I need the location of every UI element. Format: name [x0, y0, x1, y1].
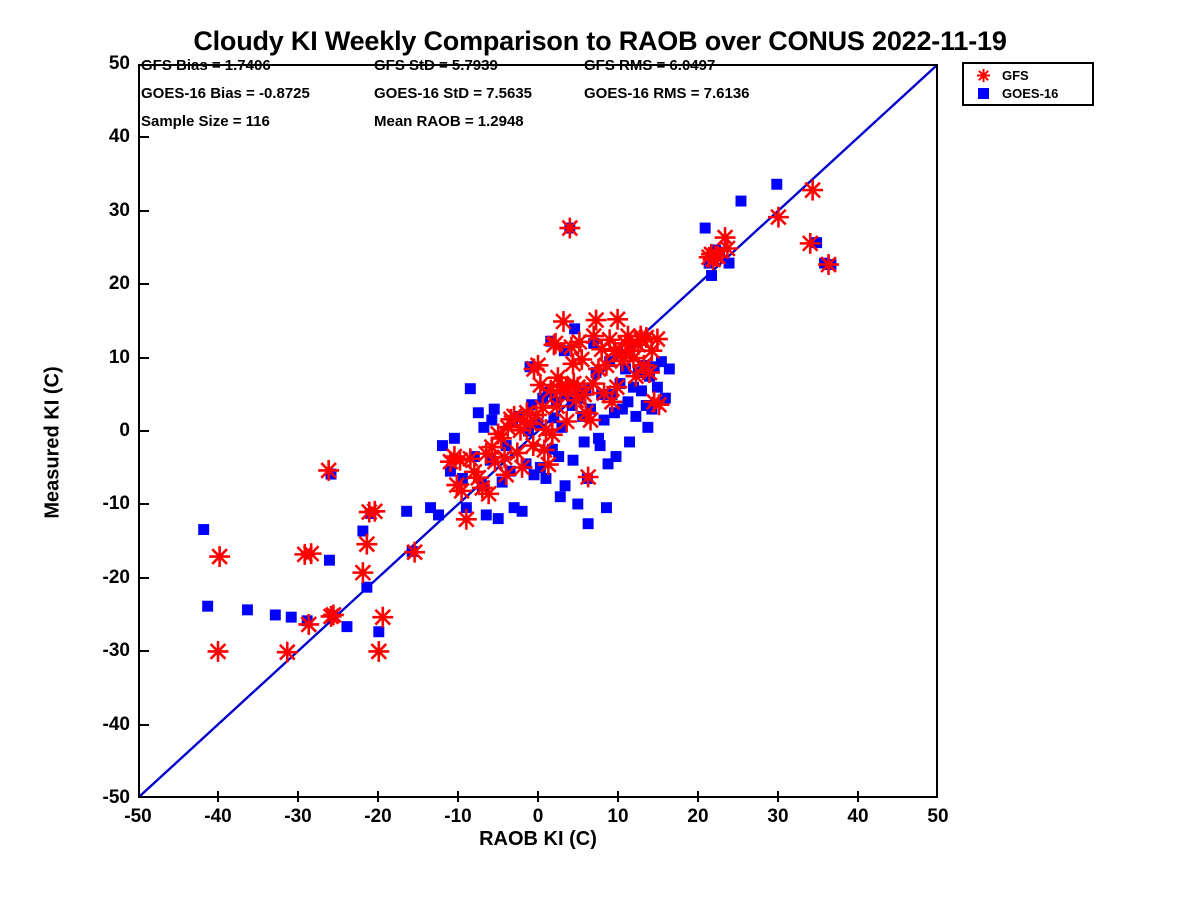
y-tick-label: 30: [109, 200, 130, 222]
data-point: [478, 483, 499, 504]
data-point: [540, 473, 551, 484]
data-point: [465, 383, 476, 394]
data-point: [209, 546, 230, 567]
data-point: [517, 506, 528, 517]
legend-label-goes16: GOES-16: [1002, 86, 1058, 101]
data-point: [559, 218, 580, 239]
data-point: [580, 410, 601, 431]
stat-goes16-rms: GOES-16 RMS = 7.6136: [584, 85, 750, 102]
data-point: [568, 455, 579, 466]
data-point: [473, 407, 484, 418]
data-point: [652, 382, 663, 393]
stat-sample-size: Sample Size = 116: [141, 113, 270, 130]
data-point: [437, 440, 448, 451]
data-point: [563, 353, 584, 374]
x-tick-mark: [537, 791, 539, 802]
data-point: [286, 612, 297, 623]
data-point: [636, 385, 647, 396]
data-point: [700, 223, 711, 234]
y-axis-title: Measured KI (C): [42, 313, 65, 573]
stat-gfs-std: GFS StD = 5.7939: [374, 57, 498, 74]
data-point: [323, 605, 344, 626]
x-axis-tick-labels: -50-40-30-20-1001020304050: [138, 802, 938, 828]
square-icon: [964, 88, 1002, 99]
data-point: [318, 460, 339, 481]
data-point: [547, 396, 568, 417]
y-tick-mark: [138, 430, 149, 432]
x-tick-mark: [297, 791, 299, 802]
data-point: [481, 509, 492, 520]
data-point: [818, 254, 839, 275]
y-tick-mark: [138, 577, 149, 579]
x-tick-label: -20: [364, 806, 391, 828]
x-tick-label: 20: [687, 806, 708, 828]
one-to-one-reference-line: [140, 66, 936, 796]
legend-label-gfs: GFS: [1002, 68, 1029, 83]
data-point: [771, 179, 782, 190]
stat-gfs-rms: GFS RMS = 6.0497: [584, 57, 715, 74]
y-tick-mark: [138, 283, 149, 285]
y-tick-label: -30: [103, 640, 130, 662]
data-point: [242, 604, 253, 615]
data-point: [373, 626, 384, 637]
stat-goes16-bias: GOES-16 Bias = -0.8725: [141, 85, 310, 102]
y-tick-label: 20: [109, 273, 130, 295]
x-tick-label: 30: [767, 806, 788, 828]
stat-goes16-std: GOES-16 StD = 7.5635: [374, 85, 532, 102]
y-tick-label: -20: [103, 567, 130, 589]
data-point: [534, 440, 555, 461]
data-point: [560, 480, 571, 491]
stats-row-2: GOES-16 Bias = -0.8725 GOES-16 StD = 7.5…: [141, 85, 931, 113]
data-point: [555, 491, 566, 502]
plot-area: [138, 64, 938, 798]
data-point: [572, 499, 583, 510]
data-point: [574, 384, 595, 405]
stat-mean-raob: Mean RAOB = 1.2948: [374, 113, 524, 130]
data-point: [198, 524, 209, 535]
data-point: [277, 642, 298, 663]
y-tick-label: -10: [103, 493, 130, 515]
y-tick-mark: [138, 724, 149, 726]
y-tick-mark: [138, 650, 149, 652]
x-tick-label: 10: [607, 806, 628, 828]
asterisk-icon: [964, 68, 1002, 83]
y-tick-label: 50: [109, 53, 130, 75]
data-point: [356, 534, 377, 555]
data-point: [364, 501, 385, 522]
data-point: [706, 270, 717, 281]
data-point: [324, 555, 335, 566]
data-point: [649, 394, 670, 415]
data-point: [352, 562, 373, 583]
data-point: [582, 373, 603, 394]
data-point: [647, 329, 668, 350]
data-point: [630, 326, 651, 347]
legend-item-goes16: GOES-16: [964, 83, 1092, 103]
legend-item-gfs: GFS: [964, 65, 1092, 85]
data-point: [368, 641, 389, 662]
data-point: [606, 377, 627, 398]
data-point: [489, 404, 500, 415]
data-point: [301, 543, 322, 564]
data-point: [736, 196, 747, 207]
data-point: [802, 180, 823, 201]
x-axis-title: RAOB KI (C): [138, 828, 938, 851]
y-tick-label: 10: [109, 347, 130, 369]
x-tick-mark: [777, 791, 779, 802]
x-tick-mark: [217, 791, 219, 802]
x-tick-mark: [617, 791, 619, 802]
data-point: [524, 359, 545, 380]
data-point: [456, 509, 477, 530]
y-tick-label: 0: [119, 420, 130, 442]
data-point: [624, 436, 635, 447]
data-point: [372, 607, 393, 628]
data-point: [601, 502, 612, 513]
data-point: [451, 480, 472, 501]
data-point: [556, 411, 577, 432]
x-tick-mark: [697, 791, 699, 802]
data-point: [578, 467, 599, 488]
data-point: [622, 396, 633, 407]
y-tick-mark: [138, 503, 149, 505]
data-point: [607, 309, 628, 330]
data-point: [298, 614, 319, 635]
x-tick-mark: [457, 791, 459, 802]
data-point: [630, 411, 641, 422]
data-point: [768, 207, 789, 228]
data-point: [538, 454, 559, 475]
scatter-canvas: [140, 66, 936, 796]
data-point: [425, 502, 436, 513]
data-point: [800, 233, 821, 254]
data-point: [449, 433, 460, 444]
data-point: [208, 641, 229, 662]
y-axis-tick-labels: -50-40-30-20-1001020304050: [56, 64, 130, 798]
x-tick-label: -10: [444, 806, 471, 828]
data-point: [545, 333, 566, 354]
data-point: [579, 436, 590, 447]
data-point: [642, 422, 653, 433]
data-point: [717, 238, 738, 259]
stats-row-3: Sample Size = 116 Mean RAOB = 1.2948: [141, 113, 931, 141]
x-tick-mark: [857, 791, 859, 802]
data-point: [553, 311, 574, 332]
data-point: [202, 601, 213, 612]
statistics-annotations: GFS Bias = 1.7406 GFS StD = 5.7939 GFS R…: [141, 57, 931, 141]
data-point: [595, 440, 606, 451]
data-point: [583, 518, 594, 529]
x-tick-label: 0: [533, 806, 544, 828]
data-point: [639, 362, 660, 383]
data-point: [602, 391, 623, 412]
data-point: [270, 609, 281, 620]
x-tick-label: -50: [124, 806, 151, 828]
x-tick-label: 40: [847, 806, 868, 828]
x-tick-label: -30: [284, 806, 311, 828]
y-tick-mark: [138, 210, 149, 212]
data-point: [440, 451, 461, 472]
y-tick-label: 40: [109, 126, 130, 148]
x-tick-label: 50: [927, 806, 948, 828]
y-tick-mark: [138, 357, 149, 359]
data-point: [460, 448, 481, 469]
data-point: [404, 542, 425, 563]
stat-gfs-bias: GFS Bias = 1.7406: [141, 57, 271, 74]
legend: GFS GOES-16: [962, 62, 1094, 106]
data-point: [586, 310, 607, 331]
data-point: [486, 415, 497, 426]
series-goes-16: [198, 179, 836, 637]
series-gfs: [208, 180, 839, 663]
data-point: [401, 506, 412, 517]
data-point: [361, 582, 372, 593]
data-point: [603, 458, 614, 469]
chart-title: Cloudy KI Weekly Comparison to RAOB over…: [0, 26, 1200, 57]
x-tick-mark: [377, 791, 379, 802]
chart-figure: Cloudy KI Weekly Comparison to RAOB over…: [0, 0, 1200, 900]
data-point: [341, 621, 352, 632]
data-point: [512, 457, 533, 478]
data-point: [664, 363, 675, 374]
stats-row-1: GFS Bias = 1.7406 GFS StD = 5.7939 GFS R…: [141, 57, 931, 85]
y-tick-label: -40: [103, 714, 130, 736]
data-point: [493, 513, 504, 524]
x-tick-label: -40: [204, 806, 231, 828]
